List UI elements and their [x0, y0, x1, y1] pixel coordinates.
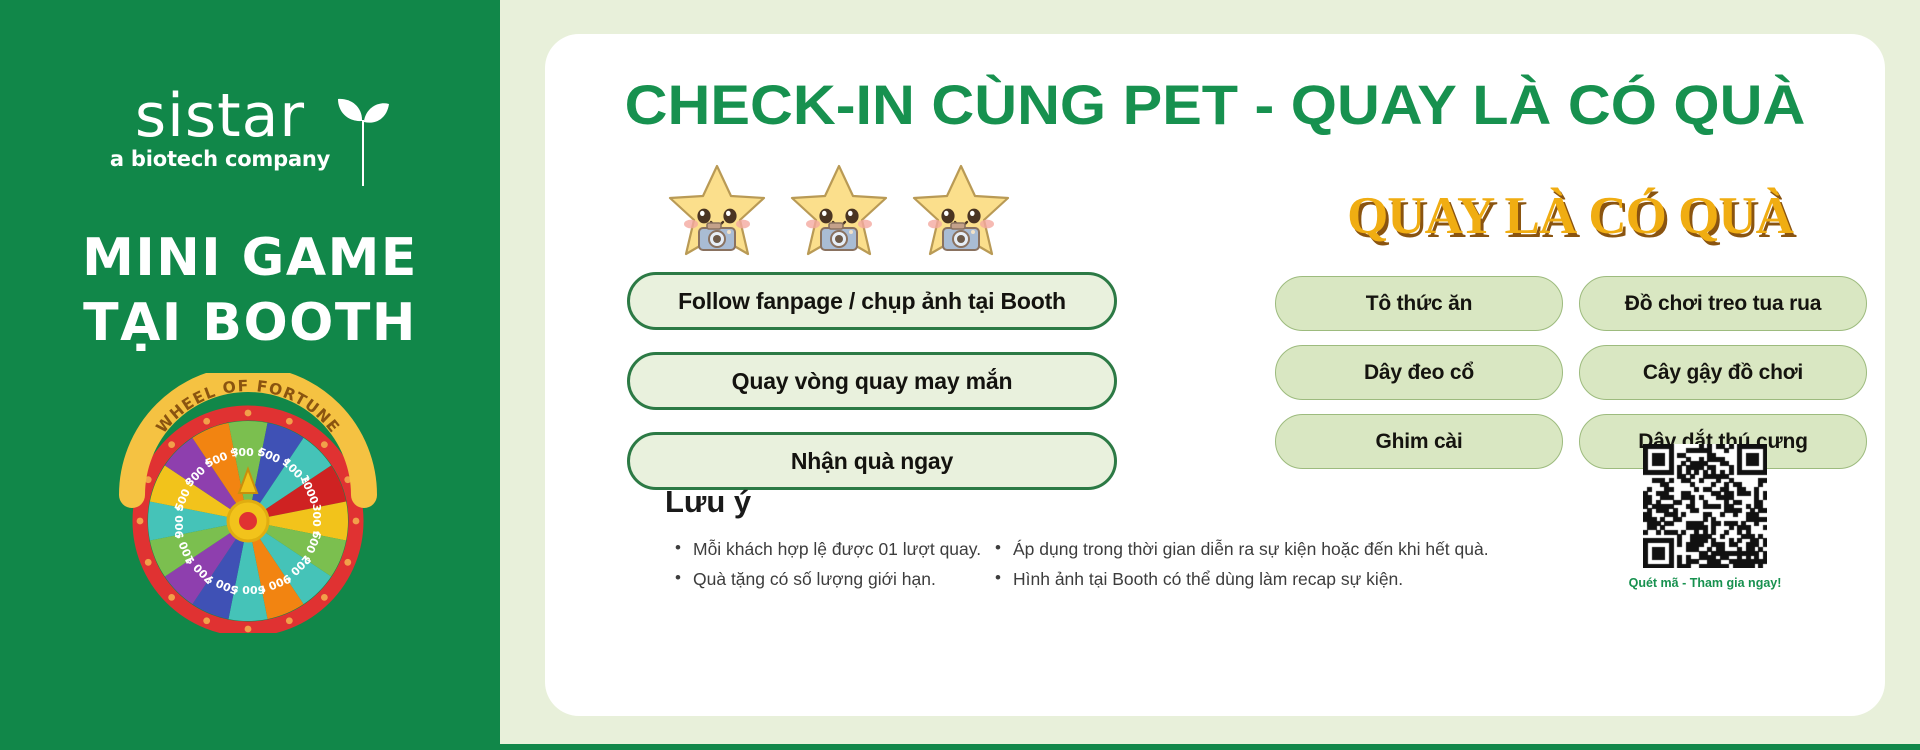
- wheel-rim-dot: [168, 441, 175, 448]
- wheel-rim-dot: [245, 410, 252, 417]
- wheel-rim-dot: [203, 617, 210, 624]
- step-label: Follow fanpage / chụp ảnh tại Booth: [678, 288, 1066, 315]
- wheel-rim-dot: [353, 518, 360, 525]
- wheel-rim-dot: [344, 559, 351, 566]
- notes-column-right: Áp dụng trong thời gian diễn ra sự kiện …: [995, 534, 1515, 594]
- main-content-card: CHECK-IN CÙNG PET - QUAY LÀ CÓ QUÀ: [545, 34, 1885, 716]
- mini-game-line-1: MINI GAME: [82, 226, 418, 291]
- star-with-camera-1: [663, 162, 771, 265]
- wheel-rim-dot: [145, 559, 152, 566]
- prize-label: Đồ chơi treo tua rua: [1625, 292, 1821, 316]
- prize-label: Cây gậy đồ chơi: [1643, 361, 1803, 385]
- star-mascots-row: [663, 162, 1015, 265]
- prize-pill-5[interactable]: Ghim cài: [1275, 414, 1563, 469]
- wheel-rim-dot: [321, 594, 328, 601]
- notes-title: Lưu ý: [665, 484, 751, 520]
- qr-block[interactable]: Quét mã - Tham gia ngay!: [1625, 444, 1785, 590]
- logo-wordmark: sistar: [135, 88, 305, 145]
- wheel-rim-dot: [203, 418, 210, 425]
- prize-pill-2[interactable]: Đồ chơi treo tua rua: [1579, 276, 1867, 331]
- step-button-1[interactable]: Follow fanpage / chụp ảnh tại Booth: [627, 272, 1117, 330]
- star-with-camera-3: [907, 162, 1015, 265]
- poster-root: sistar a biotech company MINI GAME TẠI B…: [0, 0, 1920, 750]
- logo-tagline: a biotech company: [110, 147, 330, 171]
- step-button-3[interactable]: Nhận quà ngay: [627, 432, 1117, 490]
- qr-caption: Quét mã - Tham gia ngay!: [1625, 576, 1785, 590]
- note-item: Quà tặng có số lượng giới hạn.: [675, 564, 1045, 594]
- qr-code-icon[interactable]: [1643, 444, 1767, 568]
- wheel-rim-dot: [286, 418, 293, 425]
- wheel-rim-dot: [137, 518, 144, 525]
- step-button-2[interactable]: Quay vòng quay may mắn: [627, 352, 1117, 410]
- wheel-svg: 800 $500 $100 $1000 $300 $600 $200 $900 …: [118, 373, 378, 633]
- note-item: Áp dụng trong thời gian diễn ra sự kiện …: [995, 534, 1515, 564]
- prize-pill-3[interactable]: Dây đeo cổ: [1275, 345, 1563, 400]
- sprout-icon: [336, 94, 390, 190]
- prize-grid: Tô thức ănĐồ chơi treo tua ruaDây đeo cổ…: [1275, 276, 1867, 469]
- wheel-rim-dot: [286, 617, 293, 624]
- notes-list-left: Mỗi khách hợp lệ được 01 lượt quay.Quà t…: [675, 534, 1045, 594]
- notes-list-right: Áp dụng trong thời gian diễn ra sự kiện …: [995, 534, 1515, 594]
- wheel-rim-dot: [321, 441, 328, 448]
- prize-pill-4[interactable]: Cây gậy đồ chơi: [1579, 345, 1867, 400]
- mini-game-line-2: TẠI BOOTH: [82, 291, 418, 356]
- prize-section-heading: QUAY LÀ CÓ QUÀ: [1275, 186, 1865, 246]
- wheel-hub-center: [239, 512, 257, 530]
- bottom-accent-stripe: [0, 744, 1920, 750]
- note-item: Mỗi khách hợp lệ được 01 lượt quay.: [675, 534, 1045, 564]
- step-label: Nhận quà ngay: [791, 448, 953, 475]
- step-label: Quay vòng quay may mắn: [732, 368, 1013, 395]
- prize-label: Ghim cài: [1375, 430, 1462, 454]
- note-item: Hình ảnh tại Booth có thể dùng làm recap…: [995, 564, 1515, 594]
- logo-text-wrap: sistar a biotech company: [110, 88, 330, 171]
- prize-label: Tô thức ăn: [1366, 292, 1473, 316]
- wheel-rim-dot: [168, 594, 175, 601]
- wheel-rim-dot: [245, 626, 252, 633]
- sistar-logo: sistar a biotech company: [110, 88, 390, 190]
- prize-pill-1[interactable]: Tô thức ăn: [1275, 276, 1563, 331]
- prize-label: Dây đeo cổ: [1364, 361, 1474, 385]
- wheel-of-fortune: 800 $500 $100 $1000 $300 $600 $200 $900 …: [118, 373, 378, 633]
- star-with-camera-2: [785, 162, 893, 265]
- steps-list: Follow fanpage / chụp ảnh tại BoothQuay …: [627, 272, 1117, 490]
- mini-game-heading: MINI GAME TẠI BOOTH: [82, 226, 418, 356]
- notes-column-left: Mỗi khách hợp lệ được 01 lượt quay.Quà t…: [675, 534, 1045, 594]
- page-title: CHECK-IN CÙNG PET - QUAY LÀ CÓ QUÀ: [505, 72, 1920, 137]
